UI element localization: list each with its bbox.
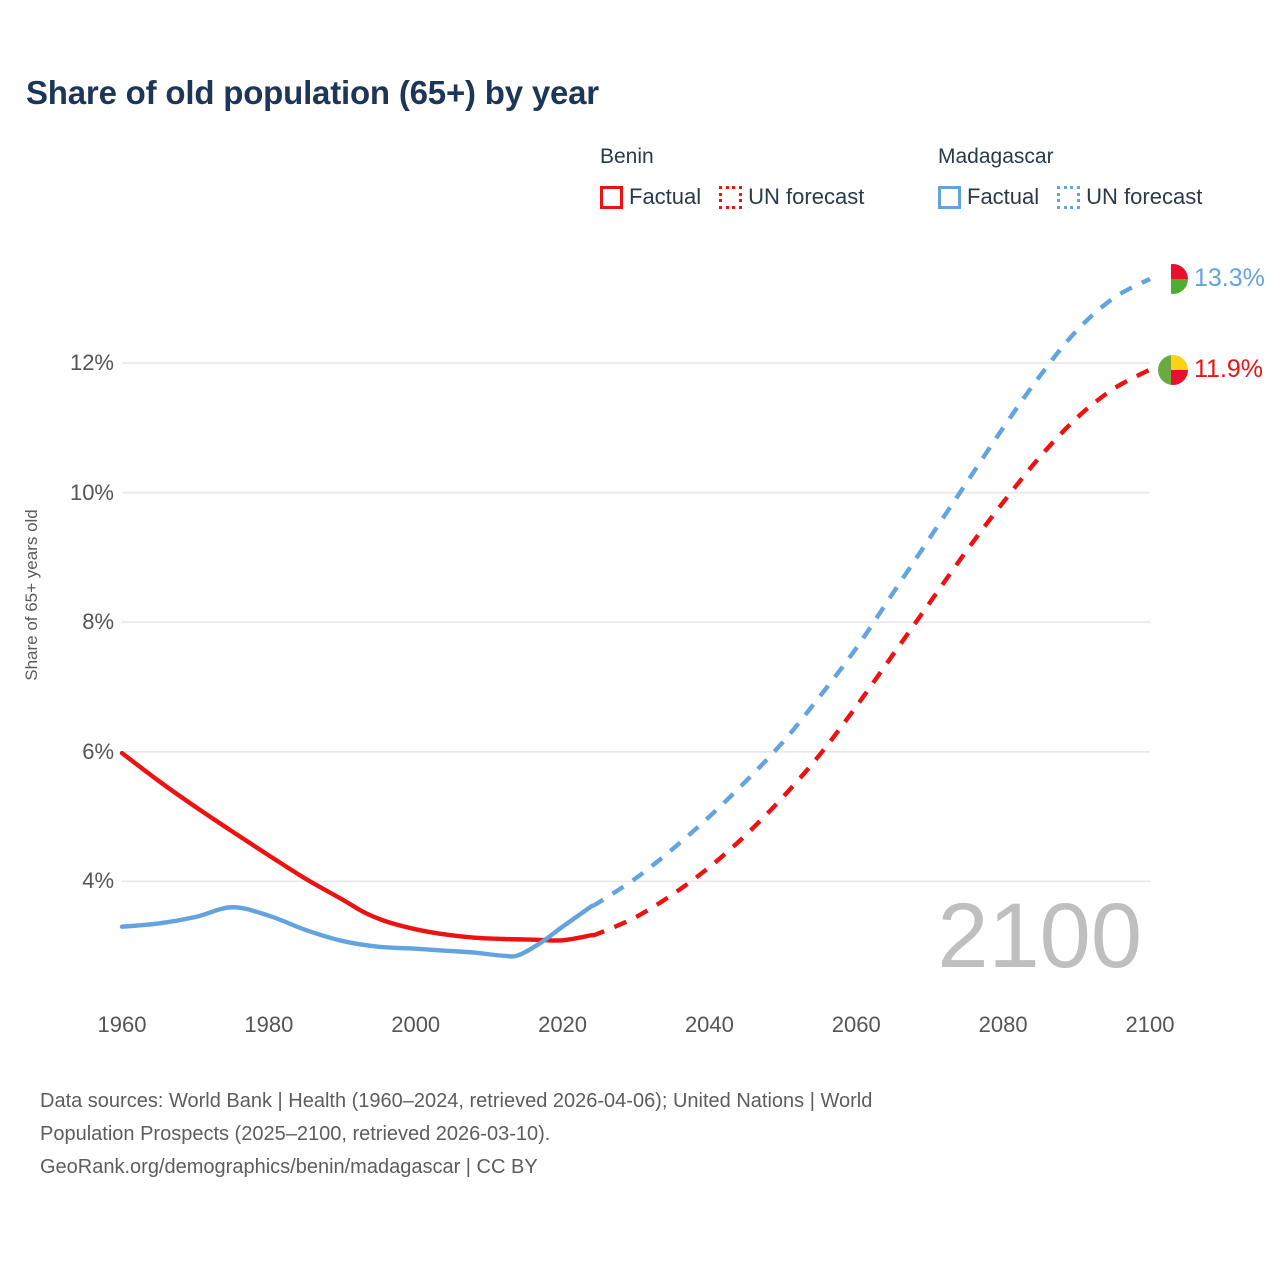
footer-line-3[interactable]: GeoRank.org/demographics/benin/madagasca…: [40, 1152, 1220, 1183]
flag-icon-madagascar: [1158, 264, 1188, 294]
footer-line-2: Population Prospects (2025–2100, retriev…: [40, 1119, 1220, 1150]
endpoint-benin: 11.9%: [1158, 355, 1263, 385]
endpoint-value-label: 11.9%: [1194, 355, 1263, 384]
endpoint-madagascar: 13.3%: [1158, 264, 1265, 294]
endpoint-value-label: 13.3%: [1194, 264, 1265, 293]
footer-line-1: Data sources: World Bank | Health (1960–…: [40, 1086, 1220, 1117]
footer-sources: Data sources: World Bank | Health (1960–…: [40, 1086, 1220, 1183]
flag-icon-benin: [1158, 355, 1188, 385]
year-watermark: 2100: [937, 890, 1142, 982]
